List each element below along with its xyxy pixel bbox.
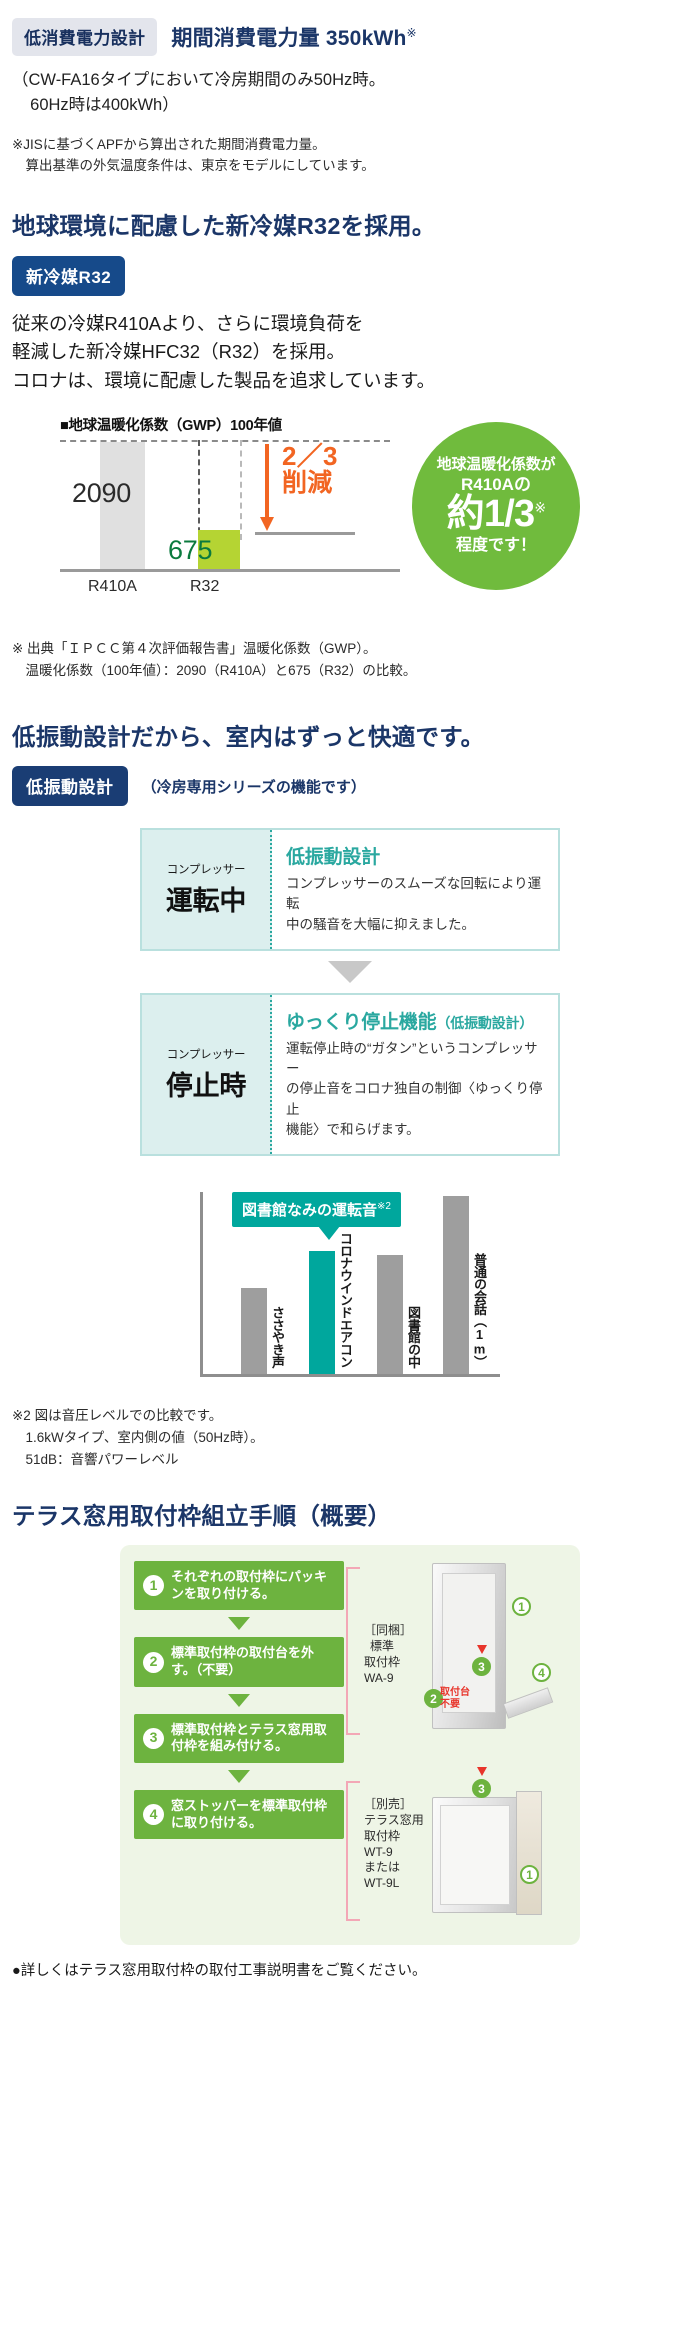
compressor-label-2: コンプレッサー xyxy=(167,1046,246,1062)
gwp-dashed-right xyxy=(240,440,242,540)
noise-bar-whisper xyxy=(241,1288,267,1374)
vb2-body-line3: 機能〉で和らげます。 xyxy=(286,1120,544,1140)
badge-line3-mark: ※ xyxy=(534,499,545,515)
vb2-body-line1: 運転停止時の“ガタン”というコンプレッサー xyxy=(286,1039,544,1080)
gwp-chart: ■地球温暖化係数（GWP）100年値 2090 675 2／3 削減 R410A xyxy=(12,414,688,614)
caption-standard-frame: ［同梱］ 標準 取付枠 WA-9 xyxy=(364,1623,412,1686)
power-consumption-section: 低消費電力設計 期間消費電力量 350kWh※ （CW-FA16タイプにおいて冷… xyxy=(0,0,700,177)
noise-label-library: 図書館の中 xyxy=(407,1306,420,1368)
gwp-chart-title: ■地球温暖化係数（GWP）100年値 xyxy=(60,414,390,435)
ipcc-footnote: ※ 出典「ＩＰＣＣ第４次評価報告書」温暖化係数（GWP）。 温暖化係数（100年… xyxy=(12,638,688,682)
gwp-value-r32: 675 xyxy=(168,535,212,566)
marker-4: 4 xyxy=(532,1663,551,1682)
vb2-title-sub: （低振動設計） xyxy=(436,1015,533,1031)
noise-bar-conversation xyxy=(443,1196,469,1374)
power-title-text: 期間消費電力量 350kWh xyxy=(171,27,406,50)
refrigerant-body-line3: コロナは、環境に配慮した製品を追求しています。 xyxy=(12,367,688,396)
page-title: 期間消費電力量 350kWh※ xyxy=(171,22,416,52)
bracket-top xyxy=(346,1567,360,1735)
terrace-frame-side xyxy=(516,1791,542,1915)
power-footnote: ※JISに基づくAPFから算出された期間消費電力量。 算出基準の外気温度条件は、… xyxy=(12,134,688,178)
step-text-4: 窓ストッパーを標準取付枠に取り付ける。 xyxy=(171,1798,335,1831)
noise-bar-corona-aircon xyxy=(309,1251,335,1374)
vibration-box-running-right: 低振動設計 コンプレッサーのスムーズな回転により運転 中の騒音を大幅に抑えました… xyxy=(272,830,558,949)
vibration-box-running-body: コンプレッサーのスムーズな回転により運転 中の騒音を大幅に抑えました。 xyxy=(286,874,544,935)
vb1-body-line1: コンプレッサーのスムーズな回転により運転 xyxy=(286,874,544,915)
noise-label-whisper: ささやき声 xyxy=(271,1306,284,1368)
power-footnote-line2: 算出基準の外気温度条件は、東京をモデルにしています。 xyxy=(12,155,688,177)
marker-1-top: 1 xyxy=(512,1597,531,1616)
gwp-annotation-top: 2／3 xyxy=(282,442,338,470)
gwp-reduction-annotation: 2／3 削減 xyxy=(282,442,338,497)
bracket-bottom xyxy=(346,1781,360,1921)
step-number-4: 4 xyxy=(143,1804,164,1825)
refrigerant-chip-row: 新冷媒R32 xyxy=(12,256,688,296)
caption-top-line3: 取付枠 xyxy=(364,1655,412,1671)
refrigerant-body: 従来の冷媒R410Aより、さらに環境負荷を 軽減した新冷媒HFC32（R32）を… xyxy=(12,310,688,396)
step-arrow-2-icon xyxy=(228,1694,250,1707)
caption-bottom-line2: テラス窓用 xyxy=(364,1813,424,1829)
noise-footnote-line2: 1.6kWタイプ、室内側の値（50Hz時）。 xyxy=(12,1427,688,1449)
compressor-state-2: 停止時 xyxy=(166,1064,246,1103)
vibration-section: 低振動設計だから、室内はずっと快適です。 低振動設計 （冷房専用シリーズの機能で… xyxy=(0,682,700,1471)
noise-plot-area: ささやき声 コロナウインドエアコン 図書館の中 普通の会話（1m） xyxy=(200,1192,500,1377)
terrace-diagram-card: 1 それぞれの取付枠にパッキンを取り付ける。 2 標準取付枠の取付台を外す。（不… xyxy=(120,1545,580,1945)
gwp-chart-inner: ■地球温暖化係数（GWP）100年値 2090 675 2／3 削減 R410A xyxy=(60,414,390,594)
noise-bar-library xyxy=(377,1255,403,1374)
step-arrow-1-icon xyxy=(228,1617,250,1630)
badge-line2: R410Aの xyxy=(461,475,531,494)
power-sub-line1: （CW-FA16タイプにおいて冷房期間のみ50Hz時。 xyxy=(12,71,385,89)
gwp-annotation-bottom: 削減 xyxy=(282,470,338,497)
power-sub-line2: 60Hz時は400kWh） xyxy=(12,93,688,118)
badge-line3: 約1/3※ xyxy=(447,493,546,536)
vibration-box-running: コンプレッサー 運転中 低振動設計 コンプレッサーのスムーズな回転により運転 中… xyxy=(140,828,560,951)
vibration-box-stopping: コンプレッサー 停止時 ゆっくり停止機能（低振動設計） 運転停止時の“ガタン”と… xyxy=(140,993,560,1156)
refrigerant-heading: 地球環境に配慮した新冷媒R32を採用。 xyxy=(12,211,688,242)
new-refrigerant-chip: 新冷媒R32 xyxy=(12,256,125,296)
vibration-heading: 低振動設計だから、室内はずっと快適です。 xyxy=(12,722,688,753)
compressor-state-1: 運転中 xyxy=(166,879,246,918)
compressor-label-1: コンプレッサー xyxy=(167,861,246,877)
terrace-frame-inner xyxy=(440,1805,510,1905)
badge-line1: 地球温暖化係数が xyxy=(437,457,556,474)
caption-bottom-line5: または xyxy=(364,1860,424,1876)
gwp-category-labels: R410A R32 xyxy=(60,578,390,600)
vibration-box-running-title: 低振動設計 xyxy=(286,842,544,869)
low-power-design-chip: 低消費電力設計 xyxy=(12,18,157,56)
step-number-1: 1 xyxy=(143,1575,164,1596)
ipcc-footnote-line2: 温暖化係数（100年値）：2090（R410A）と675（R32）の比較。 xyxy=(12,660,688,682)
callout-no-mount-base: 取付台不要 xyxy=(440,1687,470,1710)
noise-label-corona-aircon: コロナウインドエアコン xyxy=(339,1232,352,1368)
caption-top-line1: ［同梱］ xyxy=(364,1623,412,1639)
refrigerant-section: 地球環境に配慮した新冷媒R32を採用。 新冷媒R32 従来の冷媒R410Aより、… xyxy=(0,177,700,681)
terrace-step-1: 1 それぞれの取付枠にパッキンを取り付ける。 xyxy=(134,1561,344,1610)
vibration-boxes: コンプレッサー 運転中 低振動設計 コンプレッサーのスムーズな回転により運転 中… xyxy=(12,828,688,1156)
step-text-3: 標準取付枠とテラス窓用取付枠を組み付ける。 xyxy=(171,1722,335,1755)
gwp-green-badge: 地球温暖化係数が R410Aの 約1/3※ 程度です！ xyxy=(412,422,580,590)
vb1-body-line2: 中の騒音を大幅に抑えました。 xyxy=(286,915,544,935)
step-number-3: 3 xyxy=(143,1728,164,1749)
vibration-box-stopping-left: コンプレッサー 停止時 xyxy=(142,995,272,1154)
badge-line3-text: 約1/3 xyxy=(447,493,535,535)
step-arrow-3-icon xyxy=(228,1770,250,1783)
terrace-steps: 1 それぞれの取付枠にパッキンを取り付ける。 2 標準取付枠の取付台を外す。（不… xyxy=(134,1561,344,1839)
caption-bottom-line3: 取付枠 xyxy=(364,1829,424,1845)
vibration-box-stopping-title: ゆっくり停止機能（低振動設計） xyxy=(286,1007,544,1034)
noise-footnote: ※2 図は音圧レベルでの比較です。 1.6kWタイプ、室内側の値（50Hz時）。… xyxy=(12,1405,688,1471)
terrace-step-2: 2 標準取付枠の取付台を外す。（不要） xyxy=(134,1637,344,1686)
terrace-step-4: 4 窓ストッパーを標準取付枠に取り付ける。 xyxy=(134,1790,344,1839)
badge-line4: 程度です！ xyxy=(456,537,536,555)
power-subtext: （CW-FA16タイプにおいて冷房期間のみ50Hz時。 60Hz時は400kWh… xyxy=(12,68,688,118)
caption-bottom-line1: ［別売］ xyxy=(364,1797,424,1813)
terrace-section: テラス窓用取付枠組立手順（概要） 1 それぞれの取付枠にパッキンを取り付ける。 … xyxy=(0,1471,700,1946)
noise-footnote-line1: ※2 図は音圧レベルでの比較です。 xyxy=(12,1408,222,1423)
standard-frame-rail xyxy=(503,1687,554,1718)
noise-footnote-line3: 51dB：音響パワーレベル xyxy=(12,1449,688,1471)
low-vibration-chip: 低振動設計 xyxy=(12,766,128,806)
power-chip-row: 低消費電力設計 期間消費電力量 350kWh※ xyxy=(12,18,688,56)
flow-arrow-down-icon xyxy=(328,961,372,983)
step-text-1: それぞれの取付枠にパッキンを取り付ける。 xyxy=(171,1569,335,1602)
power-footnote-line1: ※JISに基づくAPFから算出された期間消費電力量。 xyxy=(12,137,326,152)
terrace-footer-note: ●詳しくはテラス窓用取付枠の取付工事説明書をご覧ください。 xyxy=(0,1945,700,2000)
vibration-box-stopping-right: ゆっくり停止機能（低振動設計） 運転停止時の“ガタン”というコンプレッサー の停… xyxy=(272,995,558,1154)
gwp-reduction-baseline xyxy=(255,532,355,535)
caption-bottom-line6: WT-9L xyxy=(364,1876,424,1892)
gwp-label-r32: R32 xyxy=(190,578,219,596)
gwp-plot-area: 2090 675 2／3 削減 xyxy=(60,440,390,572)
gwp-label-r410a: R410A xyxy=(88,578,137,596)
caption-terrace-frame: ［別売］ テラス窓用 取付枠 WT-9 または WT-9L xyxy=(364,1797,424,1892)
refrigerant-body-line1: 従来の冷媒R410Aより、さらに環境負荷を xyxy=(12,310,688,339)
vibration-chip-row: 低振動設計 （冷房専用シリーズの機能です） xyxy=(12,766,688,806)
vibration-box-running-left: コンプレッサー 運転中 xyxy=(142,830,272,949)
noise-chart: 図書館なみの運転音※2 ささやき声 コロナウインドエアコン 図書館の中 普通の会… xyxy=(200,1192,500,1377)
gwp-axis-baseline xyxy=(60,569,400,572)
marker-3-bottom: 3 xyxy=(472,1779,491,1798)
step-number-2: 2 xyxy=(143,1652,164,1673)
power-title-mark: ※ xyxy=(407,26,417,40)
caption-top-line2: 標準 xyxy=(364,1639,412,1655)
vibration-box-stopping-body: 運転停止時の“ガタン”というコンプレッサー の停止音をコロナ独自の制御〈ゆっくり… xyxy=(286,1039,544,1140)
vb2-title-main: ゆっくり停止機能 xyxy=(286,1012,436,1033)
step-text-2: 標準取付枠の取付台を外す。（不要） xyxy=(171,1645,335,1678)
gwp-reduction-arrow-icon xyxy=(265,444,269,518)
caption-top-line4: WA-9 xyxy=(364,1671,412,1687)
red-arrow-bottom-icon xyxy=(477,1767,487,1776)
red-arrow-top-icon xyxy=(477,1645,487,1654)
terrace-heading: テラス窓用取付枠組立手順（概要） xyxy=(12,1501,688,1532)
refrigerant-body-line2: 軽減した新冷媒HFC32（R32）を採用。 xyxy=(12,338,688,367)
caption-bottom-line4: WT-9 xyxy=(364,1845,424,1861)
noise-label-conversation: 普通の会話（1m） xyxy=(473,1253,486,1368)
terrace-step-3: 3 標準取付枠とテラス窓用取付枠を組み付ける。 xyxy=(134,1714,344,1763)
gwp-value-r410a: 2090 xyxy=(72,478,131,509)
vibration-chip-note: （冷房専用シリーズの機能です） xyxy=(142,776,366,797)
vb1-title-main: 低振動設計 xyxy=(286,847,380,868)
ipcc-footnote-line1: ※ 出典「ＩＰＣＣ第４次評価報告書」温暖化係数（GWP）。 xyxy=(12,641,377,656)
vb2-body-line2: の停止音をコロナ独自の制御〈ゆっくり停止 xyxy=(286,1079,544,1120)
